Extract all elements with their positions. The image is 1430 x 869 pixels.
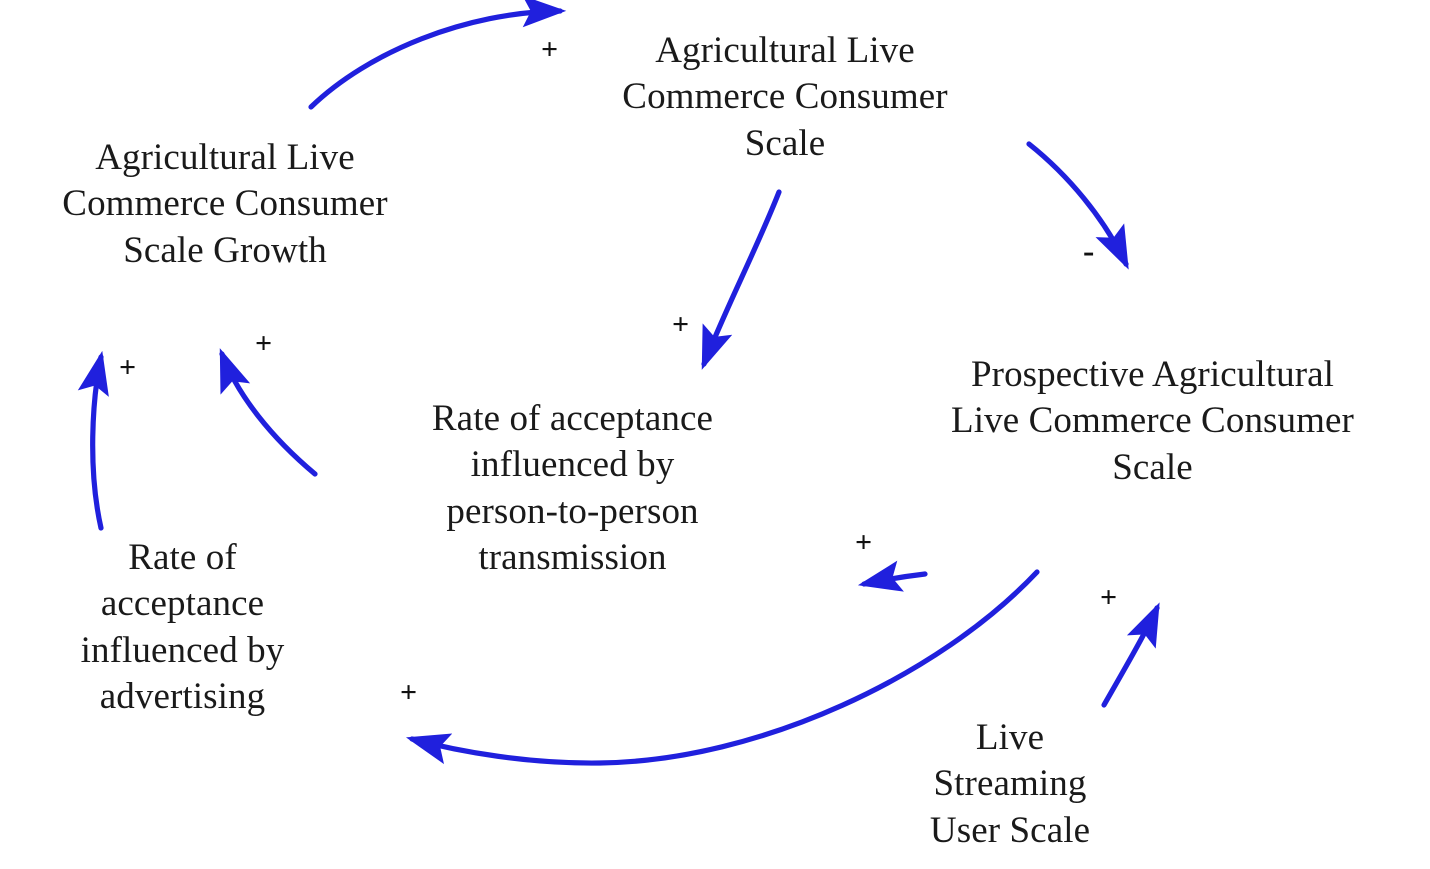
node-growth[interactable]: Agricultural Live Commerce Consumer Scal… xyxy=(10,135,440,274)
node-rate-advertising[interactable]: Rate of acceptance influenced by adverti… xyxy=(40,535,325,720)
edge-p2p-to-growth xyxy=(222,354,315,474)
edge-consumer-scale-to-p2p xyxy=(704,192,779,364)
polarity-sign-advertising-to-growth: + xyxy=(119,353,136,383)
node-prospective-consumer-scale[interactable]: Prospective Agricultural Live Commerce C… xyxy=(880,352,1425,491)
polarity-sign-consumer-scale-to-p2p: + xyxy=(672,310,689,340)
polarity-sign-p2p-to-growth: + xyxy=(255,329,272,359)
node-live-streaming-user-scale[interactable]: Live Streaming User Scale xyxy=(895,715,1125,854)
polarity-sign-growth-to-consumer-scale: + xyxy=(541,35,558,65)
polarity-sign-live-streaming-to-advertising: + xyxy=(400,678,417,708)
node-rate-person-to-person[interactable]: Rate of acceptance influenced by person-… xyxy=(375,396,770,581)
edge-prospective-to-p2p xyxy=(864,574,925,584)
node-consumer-scale[interactable]: Agricultural Live Commerce Consumer Scal… xyxy=(565,28,1005,167)
edge-advertising-to-growth xyxy=(93,357,101,528)
polarity-sign-live-streaming-to-prospective: + xyxy=(1100,583,1117,613)
edge-live-streaming-to-prospective xyxy=(1104,608,1157,705)
polarity-sign-prospective-to-p2p: + xyxy=(855,528,872,558)
edge-growth-to-consumer-scale xyxy=(311,11,560,107)
polarity-sign-consumer-scale-to-prospective: - xyxy=(1083,235,1094,269)
edge-consumer-scale-to-prospective xyxy=(1029,144,1126,264)
causal-loop-diagram-canvas: Agricultural Live Commerce Consumer Scal… xyxy=(0,0,1430,869)
